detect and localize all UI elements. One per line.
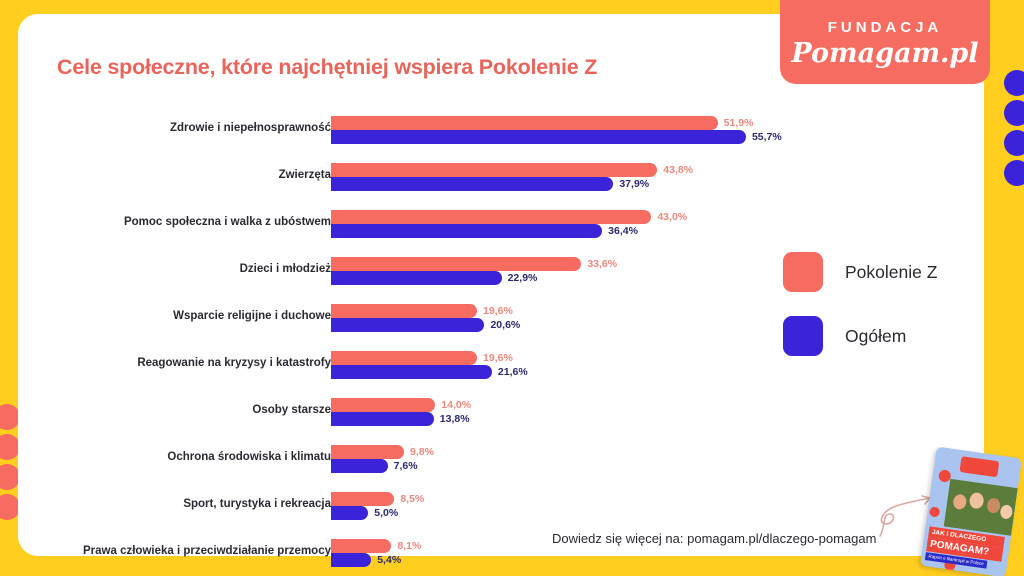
- category-label: Prawa człowieka i przeciwdziałanie przem…: [11, 545, 331, 557]
- logo-fundacja-text: FUNDACJA: [780, 19, 990, 36]
- legend-label-pokolenie-z: Pokolenie Z: [845, 262, 937, 283]
- bar-value-label: 19,6%: [483, 351, 513, 365]
- bar-value-label: 22,9%: [508, 271, 538, 285]
- bar-value-label: 21,6%: [498, 365, 528, 379]
- bar-value-label: 8,1%: [397, 539, 421, 553]
- booklet-photo: [944, 479, 1018, 536]
- bar-value-label: 55,7%: [752, 130, 782, 144]
- brand-logo: FUNDACJA Pomagam.pl: [780, 0, 990, 84]
- bar-z[interactable]: [331, 304, 477, 318]
- bar-value-label: 36,4%: [608, 224, 638, 238]
- decorative-dot-right-2: [1004, 100, 1024, 126]
- decorative-dot-left-3: [0, 464, 20, 490]
- decorative-dot-right-3: [1004, 130, 1024, 156]
- bar-value-label: 5,4%: [377, 553, 401, 567]
- chart-group: Zdrowie i niepełnosprawność51,9%55,7%: [18, 112, 778, 159]
- bar-o[interactable]: [331, 412, 434, 426]
- category-label: Sport, turystyka i rekreacja: [11, 498, 331, 510]
- legend-label-ogolem: Ogółem: [845, 326, 906, 347]
- chart-group: Zwierzęta43,8%37,9%: [18, 159, 778, 206]
- bar-z[interactable]: [331, 539, 391, 553]
- booklet-face-2: [969, 492, 985, 510]
- bar-z[interactable]: [331, 351, 477, 365]
- legend-item-ogolem: Ogółem: [783, 314, 937, 358]
- decorative-dot-right-1: [1004, 70, 1024, 96]
- slide-canvas: FUNDACJA Pomagam.pl Cele społeczne, któr…: [0, 0, 1024, 576]
- bar-o[interactable]: [331, 271, 502, 285]
- category-label: Ochrona środowiska i klimatu: [11, 451, 331, 463]
- bar-value-label: 8,5%: [400, 492, 424, 506]
- chart-group: Pomoc społeczna i walka z ubóstwem43,0%3…: [18, 206, 778, 253]
- page-title: Cele społeczne, które najchętniej wspier…: [57, 55, 597, 80]
- bar-value-label: 7,6%: [394, 459, 418, 473]
- footer-link-text: Dowiedz się więcej na: pomagam.pl/dlacze…: [552, 531, 876, 546]
- category-label: Zdrowie i niepełnosprawność: [11, 122, 331, 134]
- bar-z[interactable]: [331, 445, 404, 459]
- category-label: Dzieci i młodzież: [11, 263, 331, 275]
- bar-z[interactable]: [331, 116, 718, 130]
- bar-o[interactable]: [331, 553, 371, 567]
- chart-group: Dzieci i młodzież33,6%22,9%: [18, 253, 778, 300]
- chart-legend: Pokolenie Z Ogółem: [783, 250, 937, 378]
- bar-z[interactable]: [331, 210, 651, 224]
- booklet-face-3: [986, 497, 1001, 514]
- category-label: Reagowanie na kryzysy i katastrofy: [11, 357, 331, 369]
- bar-z[interactable]: [331, 257, 581, 271]
- category-label: Osoby starsze: [11, 404, 331, 416]
- legend-swatch-icon-ogolem: [783, 316, 823, 356]
- bar-value-label: 37,9%: [619, 177, 649, 191]
- bar-value-label: 43,0%: [657, 210, 687, 224]
- bar-o[interactable]: [331, 224, 602, 238]
- booklet-face-4: [999, 504, 1013, 520]
- bar-o[interactable]: [331, 130, 746, 144]
- chart-group: Reagowanie na kryzysy i katastrofy19,6%2…: [18, 347, 778, 394]
- decorative-dot-right-4: [1004, 160, 1024, 186]
- bar-value-label: 51,9%: [724, 116, 754, 130]
- bar-z[interactable]: [331, 492, 394, 506]
- bar-o[interactable]: [331, 365, 492, 379]
- chart-group: Wsparcie religijne i duchowe19,6%20,6%: [18, 300, 778, 347]
- bar-value-label: 14,0%: [441, 398, 471, 412]
- chart-group: Sport, turystyka i rekreacja8,5%5,0%: [18, 488, 778, 535]
- bar-value-label: 20,6%: [490, 318, 520, 332]
- legend-swatch-icon-pokolenie-z: [783, 252, 823, 292]
- bar-o[interactable]: [331, 506, 368, 520]
- bar-o[interactable]: [331, 459, 388, 473]
- booklet-dot-3: [929, 506, 940, 517]
- bar-chart-plot: Zdrowie i niepełnosprawność51,9%55,7%Zwi…: [18, 112, 778, 576]
- bar-o[interactable]: [331, 177, 613, 191]
- bar-o[interactable]: [331, 318, 484, 332]
- bar-value-label: 33,6%: [587, 257, 617, 271]
- legend-item-pokolenie-z: Pokolenie Z: [783, 250, 937, 294]
- chart-group: Osoby starsze14,0%13,8%: [18, 394, 778, 441]
- bar-value-label: 5,0%: [374, 506, 398, 520]
- booklet-face-1: [952, 494, 967, 511]
- category-label: Wsparcie religijne i duchowe: [11, 310, 331, 322]
- bar-value-label: 19,6%: [483, 304, 513, 318]
- bar-z[interactable]: [331, 398, 435, 412]
- category-label: Pomoc społeczna i walka z ubóstwem: [11, 216, 331, 228]
- bar-value-label: 13,8%: [440, 412, 470, 426]
- booklet-logo-icon: [959, 456, 999, 477]
- report-cover-thumbnail[interactable]: JAK I DLACZEGO POMAGAM? Raport o filantr…: [920, 447, 1022, 576]
- bar-value-label: 43,8%: [663, 163, 693, 177]
- bar-z[interactable]: [331, 163, 657, 177]
- chart-group: Ochrona środowiska i klimatu9,8%7,6%: [18, 441, 778, 488]
- logo-pomagam-text: Pomagam.pl: [780, 38, 990, 69]
- category-label: Zwierzęta: [11, 169, 331, 181]
- bar-value-label: 9,8%: [410, 445, 434, 459]
